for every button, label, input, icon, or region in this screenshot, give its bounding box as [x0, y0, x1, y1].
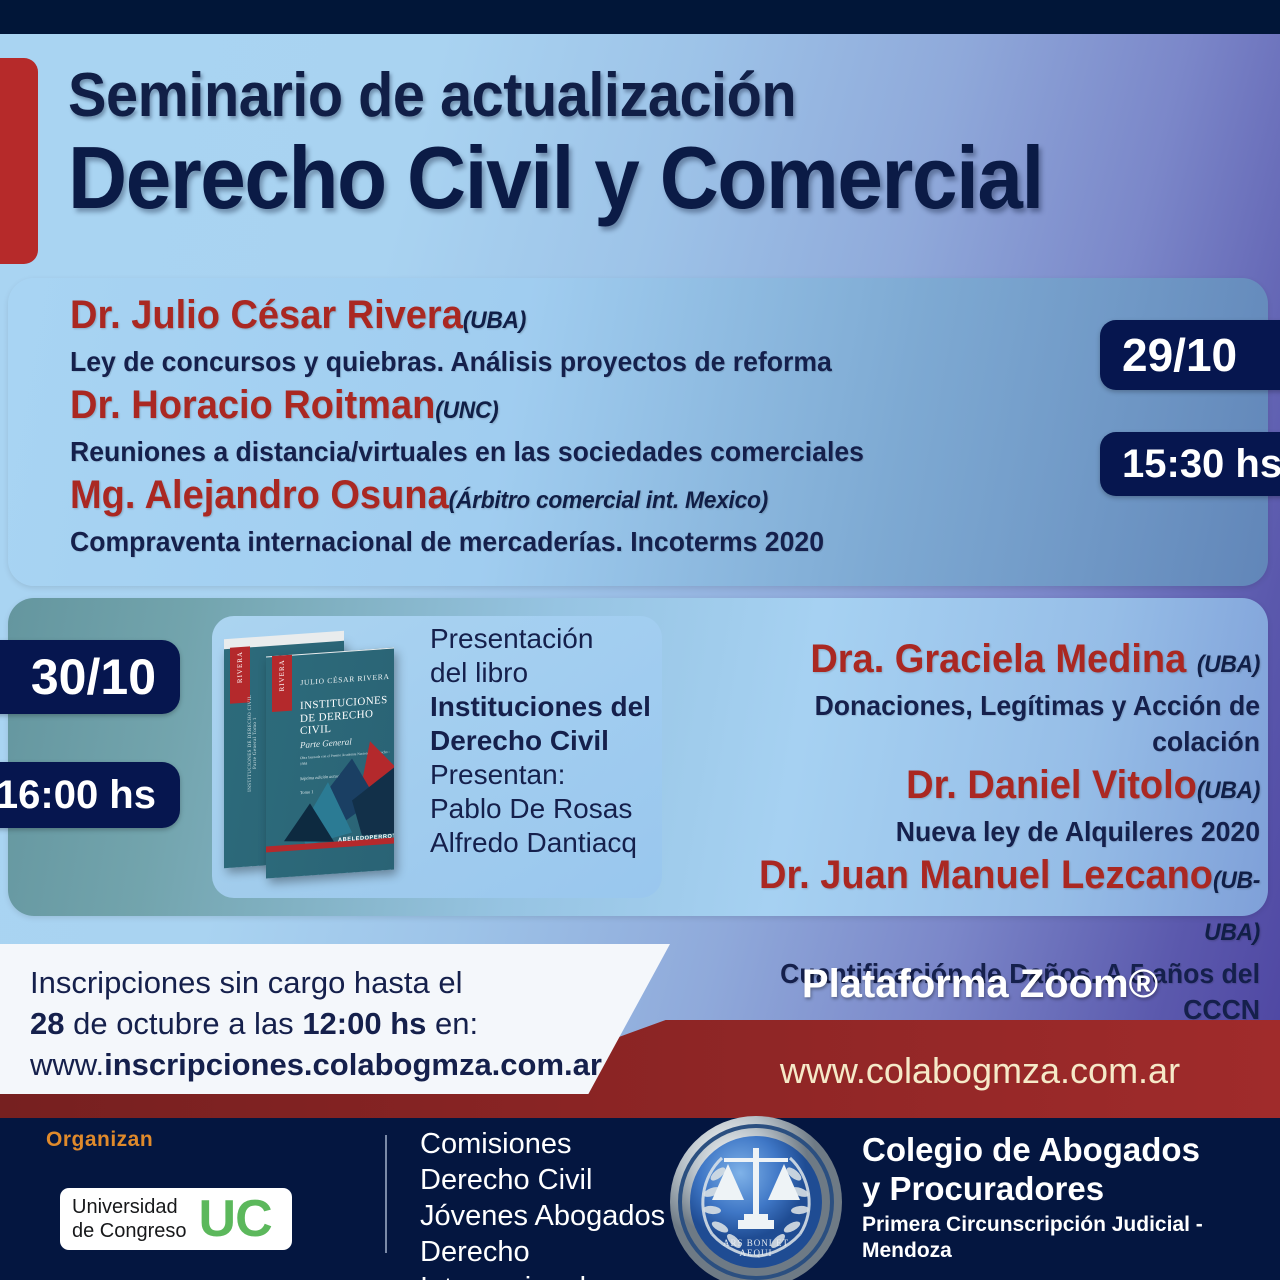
speaker-entry: Dr. Daniel Vitolo(UBA) Nueva ley de Alqu…	[690, 762, 1260, 850]
speaker-name: Dr. Julio César Rivera(UBA)	[70, 292, 906, 344]
registration-line-2: 28 de octubre a las 12:00 hs en:	[30, 1003, 630, 1044]
day2-date-badge: 30/10	[0, 640, 180, 714]
uc-logo-words: Universidad de Congreso	[72, 1195, 187, 1243]
comisiones-list: Comisiones Derecho Civil Jóvenes Abogado…	[420, 1126, 700, 1280]
colegio-emblem-icon: ARS BONI ET AEQUI	[668, 1114, 844, 1280]
speaker-entry: Dra. Graciela Medina (UBA) Donaciones, L…	[690, 636, 1260, 760]
title-accent-bar	[0, 58, 38, 264]
speaker-affiliation: (UBA)	[1197, 777, 1260, 804]
day1-time-badge: 15:30 hs	[1100, 432, 1280, 496]
uc-logo-line-2: de Congreso	[72, 1219, 187, 1243]
title-line-2: Derecho Civil y Comercial	[68, 130, 1165, 226]
book-volume-front: RIVERA JULIO CÉSAR RIVERA INSTITUCIONES …	[266, 648, 394, 879]
book-presenter-1: Pablo De Rosas	[430, 792, 680, 826]
organizan-label: Organizan	[46, 1128, 153, 1152]
book-intro-line-1: Presentación	[430, 622, 680, 656]
page-title: Seminario de actualización Derecho Civil…	[68, 62, 1248, 226]
book-spine-flag: RIVERA	[230, 646, 250, 703]
speaker-name: Mg. Alejandro Osuna(Árbitro comercial in…	[70, 472, 906, 524]
speaker-topic: Reuniones a distancia/virtuales en las s…	[70, 434, 906, 470]
speaker-affiliation: (UNC)	[435, 397, 498, 424]
comisiones-line: Derecho Internacional	[420, 1234, 700, 1280]
day2-time-badge: 16:00 hs	[0, 762, 180, 828]
colegio-line-1: Colegio de Abogados	[862, 1130, 1280, 1169]
book-presentation-text: Presentación del libro Instituciones del…	[430, 622, 680, 860]
book-spine-author: RIVERA	[236, 641, 244, 694]
speaker-name: Dr. Horacio Roitman(UNC)	[70, 382, 906, 434]
uc-logo-mark: UC	[199, 1189, 272, 1249]
speaker-name: Dr. Daniel Vitolo(UBA)	[719, 762, 1261, 814]
book-title-line-2: Derecho Civil	[430, 724, 680, 758]
uc-logo-line-1: Universidad	[72, 1195, 187, 1219]
registration-url[interactable]: www.inscripciones.colabogmza.com.ar	[30, 1044, 630, 1085]
poster-canvas: Seminario de actualización Derecho Civil…	[0, 0, 1280, 1280]
book-title-line-1: Instituciones del	[430, 690, 680, 724]
book-cover-image: RIVERA INSTITUCIONES DE DERECHO CIVIL Pa…	[218, 614, 418, 890]
website-url[interactable]: www.colabogmza.com.ar	[760, 1050, 1200, 1092]
book-presentan-label: Presentan:	[430, 758, 680, 792]
platform-label: Plataforma Zoom®	[760, 962, 1200, 1007]
colegio-name-block: Colegio de Abogados y Procuradores Prime…	[862, 1130, 1280, 1264]
speaker-entry: Mg. Alejandro Osuna(Árbitro comercial in…	[70, 472, 950, 560]
svg-text:AEQUI: AEQUI	[740, 1248, 773, 1258]
speaker-affiliation: (Árbitro comercial int. Mexico)	[449, 487, 768, 514]
book-intro-line-2: del libro	[430, 656, 680, 690]
speaker-name: Dr. Juan Manuel Lezcano(UB-UBA)	[719, 852, 1261, 956]
speaker-affiliation: (UBA)	[1197, 651, 1260, 678]
comisiones-line: Jóvenes Abogados	[420, 1198, 700, 1234]
svg-text:ARS BONI ET: ARS BONI ET	[723, 1238, 789, 1248]
speaker-entry: Dr. Horacio Roitman(UNC) Reuniones a dis…	[70, 382, 950, 470]
registration-text: Inscripciones sin cargo hasta el 28 de o…	[30, 962, 630, 1085]
speaker-topic: Ley de concursos y quiebras. Análisis pr…	[70, 344, 906, 380]
title-line-1: Seminario de actualización	[68, 62, 1165, 130]
comisiones-line: Comisiones	[420, 1126, 700, 1162]
speaker-topic: Donaciones, Legítimas y Acción de colaci…	[719, 688, 1261, 760]
speaker-affiliation: (UBA)	[463, 307, 526, 334]
universidad-de-congreso-logo: Universidad de Congreso UC	[60, 1188, 292, 1250]
registration-line-1: Inscripciones sin cargo hasta el	[30, 962, 630, 1003]
colegio-line-2: y Procuradores	[862, 1169, 1280, 1208]
footer-divider	[385, 1135, 387, 1253]
speaker-topic: Compraventa internacional de mercaderías…	[70, 524, 906, 560]
day1-speaker-list: Dr. Julio César Rivera(UBA) Ley de concu…	[70, 292, 950, 562]
speaker-name: Dra. Graciela Medina (UBA)	[719, 636, 1261, 688]
top-navy-strip	[0, 0, 1280, 34]
book-spine-title: INSTITUCIONES DE DERECHO CIVIL Parte Gen…	[248, 688, 258, 799]
speaker-entry: Dr. Julio César Rivera(UBA) Ley de concu…	[70, 292, 950, 380]
book-presenter-2: Alfredo Dantiacq	[430, 826, 680, 860]
comisiones-line: Derecho Civil	[420, 1162, 700, 1198]
day1-date-badge: 29/10	[1100, 320, 1280, 390]
speaker-affiliation: (UB-UBA)	[1204, 867, 1260, 946]
colegio-line-3: Primera Circunscripción Judicial - Mendo…	[862, 1212, 1280, 1264]
speaker-topic: Nueva ley de Alquileres 2020	[719, 814, 1261, 850]
